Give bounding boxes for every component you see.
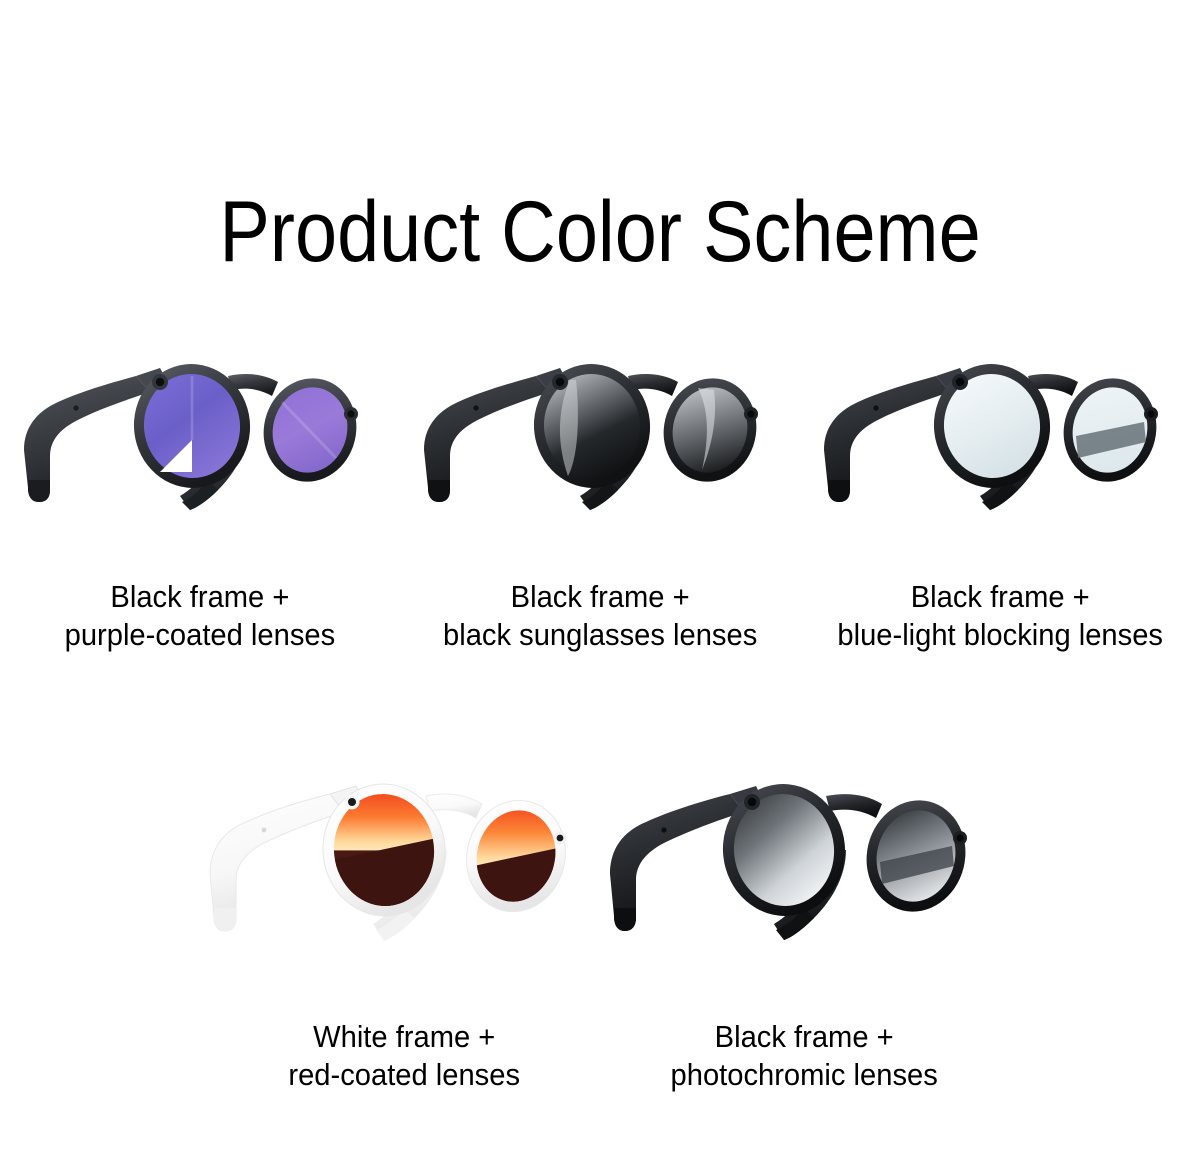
glasses-image-red-coated (194, 746, 614, 996)
product-caption-blue-light-blocking: Black frame + blue-light blocking lenses (837, 578, 1163, 654)
temple-tip-left (28, 480, 50, 502)
product-color-scheme-page: Product Color Scheme (0, 0, 1200, 1173)
camera-aperture-icon-right (956, 834, 963, 841)
product-caption-photochromic: Black frame + photochromic lenses (670, 1018, 937, 1094)
product-caption-black-sunglasses: Black frame + black sunglasses lenses (443, 578, 757, 654)
mic-hole-icon (73, 405, 78, 410)
camera-aperture-icon-left (748, 798, 756, 806)
mic-hole-icon (262, 828, 267, 833)
product-card-red-coated[interactable]: White frame + red-coated lenses (204, 746, 604, 1094)
temple-tip-left (614, 908, 636, 931)
glasses-image-purple-coated (10, 330, 390, 560)
camera-aperture-icon-right (747, 410, 754, 417)
product-row-1: Black frame + purple-coated lenses (0, 330, 1200, 654)
glasses-image-black-sunglasses (410, 330, 790, 560)
product-caption-red-coated: White frame + red-coated lenses (288, 1018, 520, 1094)
temple-tip-left (214, 908, 236, 931)
camera-aperture-icon-left (956, 378, 964, 386)
product-card-purple-coated[interactable]: Black frame + purple-coated lenses (0, 330, 400, 654)
mic-hole-icon (473, 405, 478, 410)
camera-aperture-icon-left (348, 798, 356, 806)
camera-aperture-icon-right (1147, 410, 1154, 417)
product-caption-purple-coated: Black frame + purple-coated lenses (65, 578, 336, 654)
camera-aperture-icon-left (156, 378, 164, 386)
product-card-black-sunglasses[interactable]: Black frame + black sunglasses lenses (400, 330, 800, 654)
temple-tip-left (428, 480, 450, 502)
temple-tip-left (828, 480, 850, 502)
mic-hole-icon (661, 827, 666, 832)
product-card-photochromic[interactable]: Black frame + photochromic lenses (604, 746, 1004, 1094)
camera-aperture-icon-right (347, 410, 354, 417)
page-title: Product Color Scheme (72, 184, 1128, 280)
camera-aperture-icon-left (556, 378, 564, 386)
glasses-image-blue-light-blocking (810, 330, 1190, 560)
camera-aperture-icon-right (557, 835, 564, 842)
product-card-blue-light-blocking[interactable]: Black frame + blue-light blocking lenses (800, 330, 1200, 654)
product-grid: Black frame + purple-coated lenses (0, 330, 1200, 1094)
product-row-2: White frame + red-coated lenses (0, 746, 1200, 1094)
mic-hole-icon (873, 405, 878, 410)
glasses-image-photochromic (594, 746, 1014, 996)
